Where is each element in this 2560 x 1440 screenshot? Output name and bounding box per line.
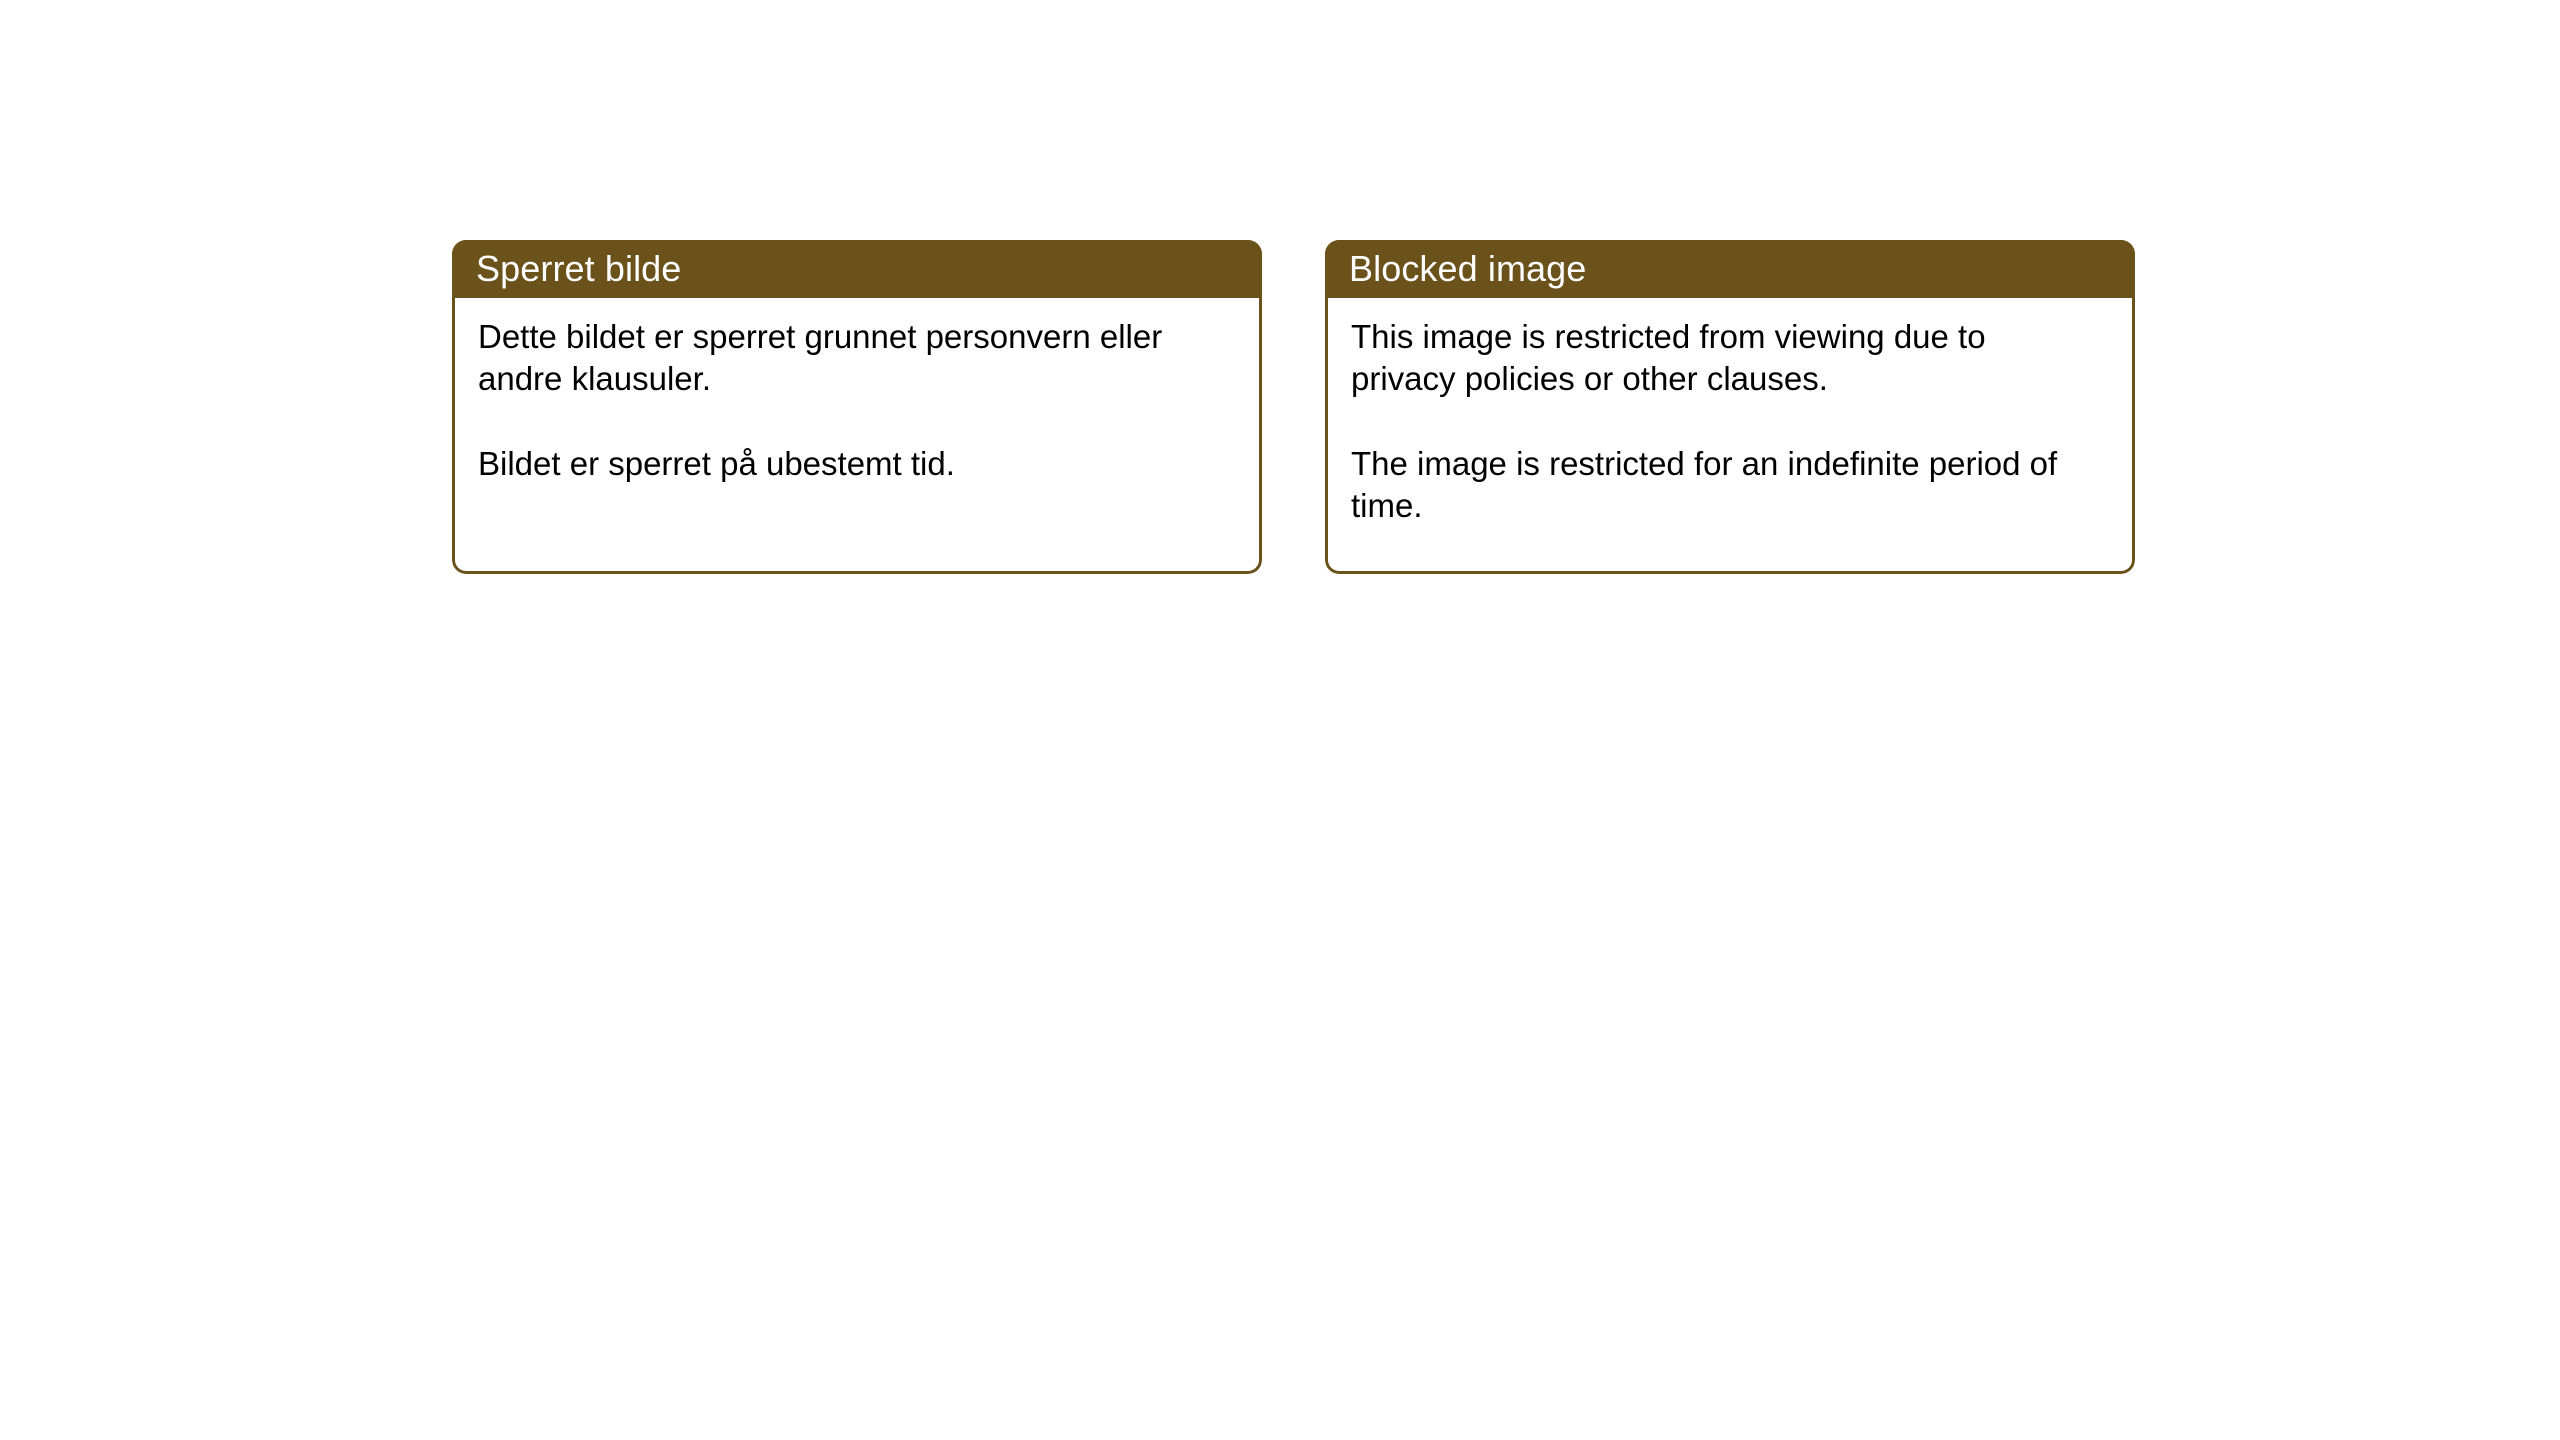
card-title-norwegian: Sperret bilde — [476, 251, 681, 287]
blocked-image-notice-group: Sperret bilde Dette bildet er sperret gr… — [452, 240, 2135, 574]
card-paragraph-duration-norwegian: Bildet er sperret på ubestemt tid. — [478, 443, 1218, 485]
card-paragraph-duration-english: The image is restricted for an indefinit… — [1351, 443, 2091, 526]
page-root: Sperret bilde Dette bildet er sperret gr… — [0, 0, 2560, 1440]
blocked-image-card-norwegian: Sperret bilde Dette bildet er sperret gr… — [452, 240, 1262, 574]
blocked-image-card-english: Blocked image This image is restricted f… — [1325, 240, 2135, 574]
card-body-english: This image is restricted from viewing du… — [1325, 298, 2135, 574]
card-header-english: Blocked image — [1325, 240, 2135, 298]
card-paragraph-reason-english: This image is restricted from viewing du… — [1351, 316, 2091, 399]
card-header-norwegian: Sperret bilde — [452, 240, 1262, 298]
card-title-english: Blocked image — [1349, 251, 1586, 287]
card-paragraph-reason-norwegian: Dette bildet er sperret grunnet personve… — [478, 316, 1218, 399]
card-body-norwegian: Dette bildet er sperret grunnet personve… — [452, 298, 1262, 574]
